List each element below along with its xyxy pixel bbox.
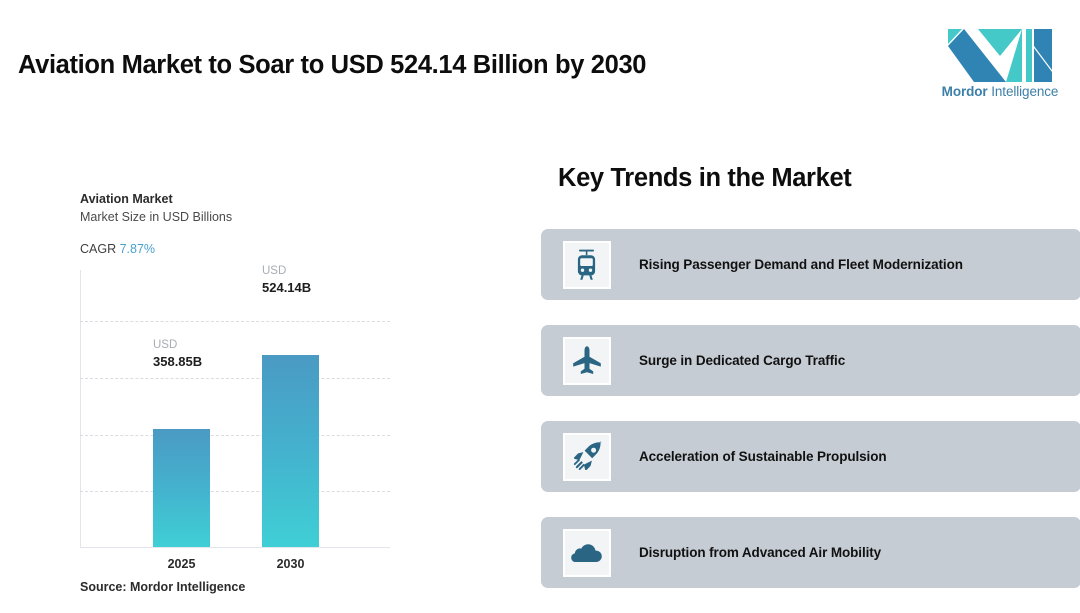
key-trends-panel: Key Trends in the Market Rising Passenge… <box>541 160 1080 609</box>
logo-wordmark: Mordor Intelligence <box>930 84 1070 99</box>
tram-icon <box>563 241 611 289</box>
trend-card-advanced-air-mobility[interactable]: Disruption from Advanced Air Mobility <box>541 517 1080 588</box>
bar-2025[interactable] <box>153 429 210 547</box>
trend-label: Rising Passenger Demand and Fleet Modern… <box>639 229 963 300</box>
key-trends-heading: Key Trends in the Market <box>558 164 851 193</box>
bar-label-2030: USD 524.14B <box>262 264 311 296</box>
chart-subtitle: Market Size in USD Billions <box>80 210 232 224</box>
trend-label: Acceleration of Sustainable Propulsion <box>639 421 887 492</box>
y-axis-line <box>80 270 81 547</box>
trend-card-rising-passenger-demand[interactable]: Rising Passenger Demand and Fleet Modern… <box>541 229 1080 300</box>
gridline <box>80 378 390 379</box>
rocket-icon <box>563 433 611 481</box>
mordor-logo-mark-icon <box>948 24 1052 82</box>
key-trends-list: Rising Passenger Demand and Fleet Modern… <box>541 229 1080 613</box>
gridline <box>80 435 390 436</box>
bar-chart-plot-area: USD 358.85B 2025 USD 524.14B 2030 <box>80 270 390 547</box>
logo-word-mordor: Mordor <box>942 84 988 99</box>
chart-cagr: CAGR 7.87% <box>80 242 155 256</box>
bar-unit-2030: USD <box>262 264 311 279</box>
trend-card-sustainable-propulsion[interactable]: Acceleration of Sustainable Propulsion <box>541 421 1080 492</box>
header: Aviation Market to Soar to USD 524.14 Bi… <box>0 0 1080 125</box>
cagr-label: CAGR <box>80 242 120 256</box>
chart-title: Aviation Market <box>80 192 173 206</box>
x-tick-2025: 2025 <box>153 557 210 571</box>
x-axis-line <box>80 547 390 548</box>
gridline <box>80 321 390 322</box>
bar-value-2030: 524.14B <box>262 279 311 296</box>
logo-word-intelligence: Intelligence <box>988 84 1059 99</box>
bar-unit-2025: USD <box>153 338 202 353</box>
gridline <box>80 491 390 492</box>
bar-2030[interactable] <box>262 355 319 547</box>
trend-label: Disruption from Advanced Air Mobility <box>639 517 881 588</box>
cagr-value: 7.87% <box>120 242 155 256</box>
bar-value-2025: 358.85B <box>153 353 202 370</box>
page-title: Aviation Market to Soar to USD 524.14 Bi… <box>18 51 646 80</box>
trend-label: Surge in Dedicated Cargo Traffic <box>639 325 845 396</box>
chart-source: Source: Mordor Intelligence <box>80 580 245 594</box>
x-tick-2030: 2030 <box>262 557 319 571</box>
chart-panel: Aviation Market Market Size in USD Billi… <box>80 192 410 602</box>
brand-logo: Mordor Intelligence <box>930 24 1070 106</box>
cloud-icon <box>563 529 611 577</box>
airplane-icon <box>563 337 611 385</box>
bar-label-2025: USD 358.85B <box>153 338 202 370</box>
trend-card-dedicated-cargo-traffic[interactable]: Surge in Dedicated Cargo Traffic <box>541 325 1080 396</box>
